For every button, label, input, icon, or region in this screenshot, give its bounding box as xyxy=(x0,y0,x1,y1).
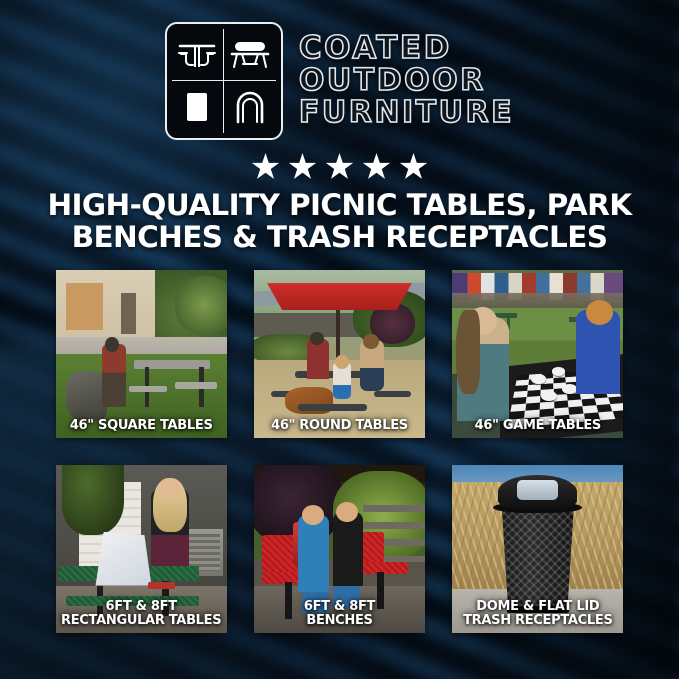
brand-line-1: COATED xyxy=(299,33,514,65)
product-card-game-tables[interactable]: 46" GAME TABLES xyxy=(452,270,623,438)
brand-wordmark: COATED OUTDOOR FURNITURE xyxy=(299,33,514,129)
star-icon xyxy=(363,153,391,181)
caption-line-2: BENCHES xyxy=(257,614,422,628)
product-card-rectangular-tables[interactable]: 6FT & 8FT RECTANGULAR TABLES xyxy=(56,465,227,633)
brand-line-2: OUTDOOR xyxy=(299,66,514,97)
product-caption: 6FT & 8FT RECTANGULAR TABLES xyxy=(56,600,227,628)
product-caption: 6FT & 8FT BENCHES xyxy=(254,600,425,628)
page-title: HIGH-QUALITY PICNIC TABLES, PARK BENCHES… xyxy=(0,190,679,254)
promo-banner: COATED OUTDOOR FURNITURE HIGH-QUALITY PI… xyxy=(0,0,679,679)
product-card-trash-receptacles[interactable]: DOME & FLAT LID TRASH RECEPTACLES xyxy=(452,465,623,633)
caption-line-2: TRASH RECEPTACLES xyxy=(455,614,620,628)
star-icon xyxy=(400,153,428,181)
product-card-benches[interactable]: 6FT & 8FT BENCHES xyxy=(254,465,425,633)
caption-line-1: 6FT & 8FT xyxy=(304,599,375,614)
brand-logo: COATED OUTDOOR FURNITURE xyxy=(0,0,679,140)
star-icon xyxy=(289,153,317,181)
caption-line-1: 46" GAME TABLES xyxy=(475,418,601,433)
product-caption: DOME & FLAT LID TRASH RECEPTACLES xyxy=(452,600,623,628)
caption-line-1: 46" SQUARE TABLES xyxy=(70,418,213,433)
caption-line-1: 6FT & 8FT xyxy=(106,599,177,614)
bike-rack-icon xyxy=(224,81,276,133)
caption-line-2: RECTANGULAR TABLES xyxy=(59,614,224,628)
headline-line-1: HIGH-QUALITY PICNIC TABLES, PARK xyxy=(47,188,631,222)
product-caption: 46" GAME TABLES xyxy=(452,419,623,433)
product-photo-round-tables xyxy=(254,270,425,438)
picnic-table-icon xyxy=(172,29,224,81)
product-grid: 46" SQUARE TABLES 46" ROUND TAB xyxy=(56,270,624,633)
trash-receptacle-icon xyxy=(172,81,224,133)
caption-line-1: 46" ROUND TABLES xyxy=(271,418,408,433)
product-photo-square-tables xyxy=(56,270,227,438)
park-bench-icon xyxy=(224,29,276,81)
star-icon xyxy=(326,153,354,181)
product-card-round-tables[interactable]: 46" ROUND TABLES xyxy=(254,270,425,438)
product-caption: 46" ROUND TABLES xyxy=(254,419,425,433)
caption-line-1: DOME & FLAT LID xyxy=(476,599,599,614)
star-rating xyxy=(0,153,679,181)
product-photo-game-tables xyxy=(452,270,623,438)
star-icon xyxy=(252,153,280,181)
product-caption: 46" SQUARE TABLES xyxy=(56,419,227,433)
product-card-square-tables[interactable]: 46" SQUARE TABLES xyxy=(56,270,227,438)
brand-line-3: FURNITURE xyxy=(299,98,514,129)
headline-line-2: BENCHES & TRASH RECEPTACLES xyxy=(32,222,647,254)
logo-icon-grid xyxy=(165,22,283,140)
